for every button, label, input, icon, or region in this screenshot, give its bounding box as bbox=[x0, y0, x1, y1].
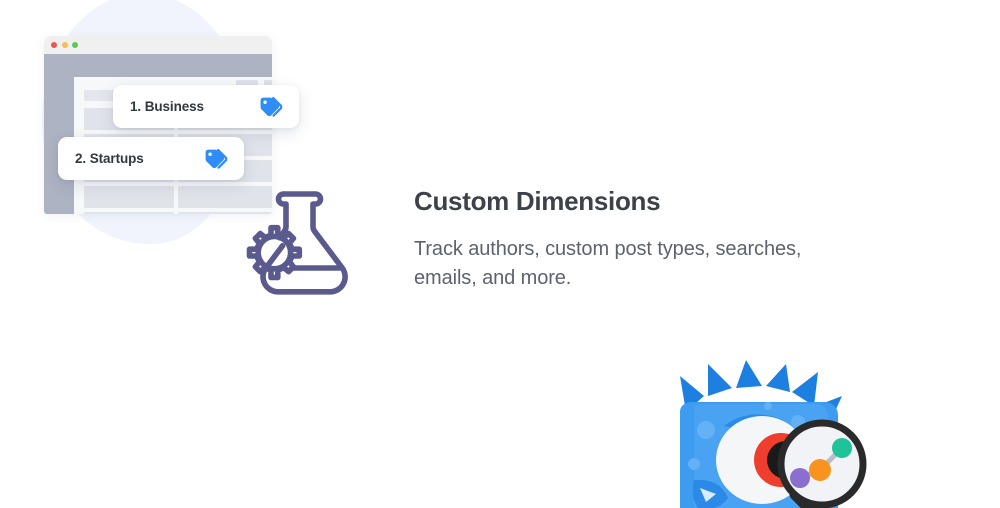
feature-description: Track authors, custom post types, search… bbox=[414, 235, 854, 292]
feature-text-column: Custom Dimensions Track authors, custom … bbox=[414, 186, 854, 292]
dimension-card-label: 1. Business bbox=[130, 99, 204, 114]
node-purple bbox=[790, 468, 810, 488]
gear-shape bbox=[246, 208, 253, 215]
node-orange bbox=[809, 459, 831, 481]
cell-divider bbox=[174, 186, 178, 208]
tag-icon bbox=[204, 149, 230, 169]
minimize-dot[interactable] bbox=[62, 42, 68, 48]
page-title: Custom Dimensions bbox=[414, 186, 854, 217]
flask-gear-icon bbox=[222, 182, 368, 310]
magnifying-glass-icon bbox=[781, 423, 863, 508]
maximize-dot[interactable] bbox=[72, 42, 78, 48]
feature-showcase-stage: 1. Business 2. Startups bbox=[0, 0, 1000, 508]
browser-titlebar bbox=[44, 36, 272, 54]
dimension-card-label: 2. Startups bbox=[75, 151, 144, 166]
cell-divider bbox=[174, 212, 178, 214]
dimension-card-business[interactable]: 1. Business bbox=[113, 85, 299, 128]
tag-icon bbox=[259, 97, 285, 117]
close-dot[interactable] bbox=[51, 42, 57, 48]
node-green bbox=[832, 438, 852, 458]
monster-mascot bbox=[650, 360, 880, 508]
admin-sidebar bbox=[44, 54, 74, 214]
admin-bar bbox=[44, 54, 272, 77]
dimension-card-startups[interactable]: 2. Startups bbox=[58, 137, 244, 180]
custom-dimensions-illustration: 1. Business 2. Startups bbox=[0, 0, 400, 330]
mascot-artwork bbox=[650, 360, 880, 508]
